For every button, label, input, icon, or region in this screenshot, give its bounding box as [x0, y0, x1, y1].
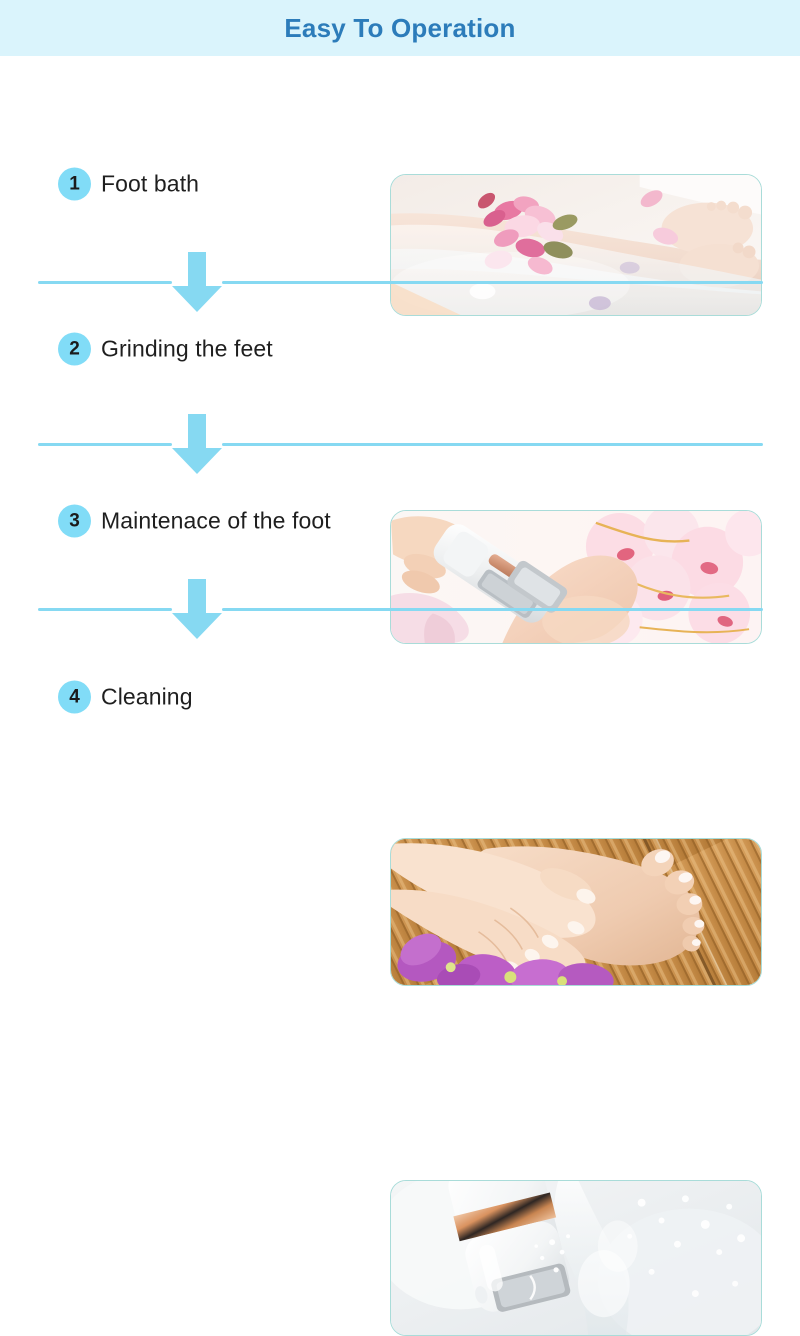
foot-maintenance-photo [391, 839, 761, 985]
step-label-3: 3 Maintenace of the foot [58, 505, 331, 538]
step-text-3: Maintenace of the foot [101, 508, 331, 535]
divider-line-left-3 [38, 608, 172, 611]
step-label-1: 1 Foot bath [58, 168, 199, 201]
step-number-badge-2: 2 [58, 333, 91, 366]
step-number-badge-1: 1 [58, 168, 91, 201]
page-root: Easy To Operation 1 Foot bath [0, 0, 800, 800]
step-row-1: 1 Foot bath [0, 108, 800, 260]
step-row-4: 4 Cleaning [0, 618, 800, 776]
step-row-2: 2 Grinding the feet [0, 278, 800, 420]
divider-line-right-3 [222, 608, 763, 611]
step-text-2: Grinding the feet [101, 336, 273, 363]
step-image-card-3 [390, 838, 762, 986]
step-image-card-4 [390, 1180, 762, 1336]
step-text-1: Foot bath [101, 171, 199, 198]
header-banner: Easy To Operation [0, 0, 800, 56]
step-label-4: 4 Cleaning [58, 681, 193, 714]
step-label-2: 2 Grinding the feet [58, 333, 273, 366]
step-number-badge-4: 4 [58, 681, 91, 714]
step-number-badge-3: 3 [58, 505, 91, 538]
step-text-4: Cleaning [101, 684, 193, 711]
cleaning-device-photo [391, 1181, 761, 1335]
page-title: Easy To Operation [284, 15, 515, 41]
step-row-3: 3 Maintenace of the foot [0, 442, 800, 600]
steps-container: 1 Foot bath [0, 56, 800, 800]
